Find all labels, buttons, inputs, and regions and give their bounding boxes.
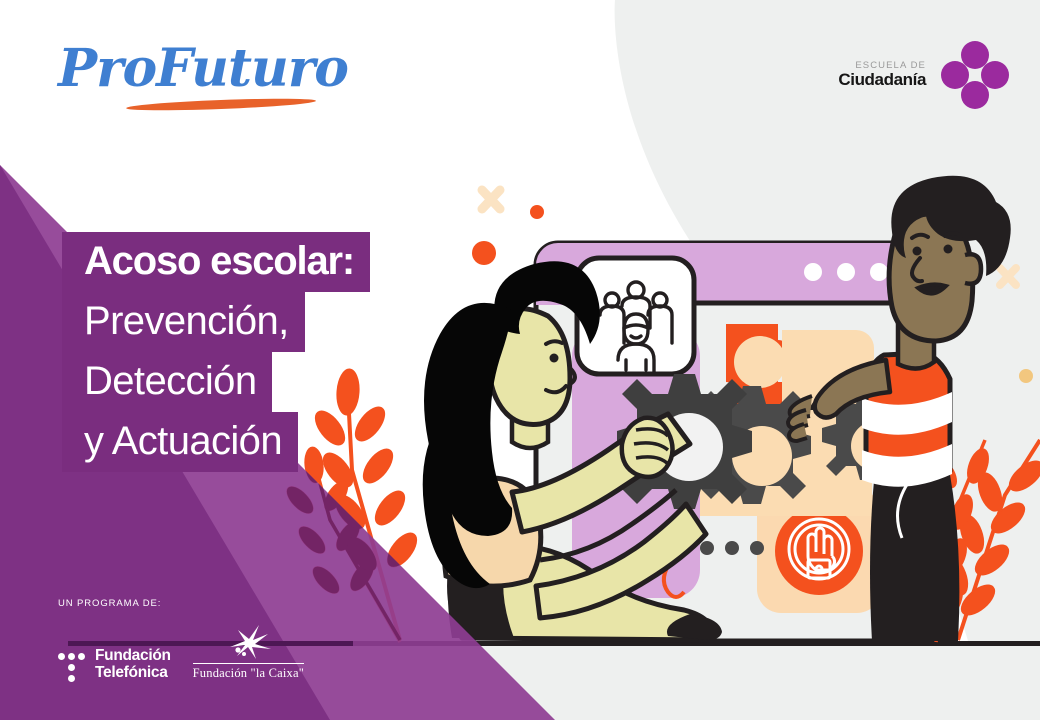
telefonica-dots-icon: [58, 649, 86, 679]
sponsor-logos-row: Fundación Telefónica Fundación "la Caixa…: [58, 623, 304, 681]
flower-mark-icon: [940, 40, 1010, 110]
browser-window-dots: [804, 263, 888, 281]
telefonica-line-2: Telefónica: [95, 664, 168, 681]
sponsor-block: UN PROGRAMA DE: Fundación Telefónica: [58, 598, 304, 681]
caixa-star-icon: [218, 623, 278, 661]
caixa-wordmark: Fundación "la Caixa": [193, 663, 304, 681]
girl-hand: [622, 418, 673, 477]
profuturo-logo[interactable]: ProFuturo: [58, 38, 358, 118]
title-line-1: Acoso escolar:: [62, 232, 370, 292]
escuela-name: Ciudadanía: [838, 71, 926, 89]
telefonica-wordmark: Fundación Telefónica: [95, 647, 171, 681]
profuturo-wordmark: ProFuturo: [58, 38, 358, 100]
boy-ear: [965, 254, 981, 283]
escuela-ciudadania-logo[interactable]: ESCUELA DE Ciudadanía: [838, 40, 1010, 110]
title-line-3: Detección: [62, 352, 272, 412]
page-title: Acoso escolar: Prevención, Detección y A…: [62, 232, 370, 472]
title-line-4: y Actuación: [62, 412, 298, 472]
cover-slide: ProFuturo ESCUELA DE Ciudadanía Acoso es…: [0, 0, 1040, 720]
fundacion-la-caixa-logo[interactable]: Fundación "la Caixa": [193, 623, 304, 681]
telefonica-line-1: Fundación: [95, 647, 171, 664]
escuela-text: ESCUELA DE Ciudadanía: [838, 61, 926, 89]
title-line-2: Prevención,: [62, 292, 305, 352]
sponsor-kicker: UN PROGRAMA DE:: [58, 598, 304, 609]
fundacion-telefonica-logo[interactable]: Fundación Telefónica: [58, 647, 171, 681]
